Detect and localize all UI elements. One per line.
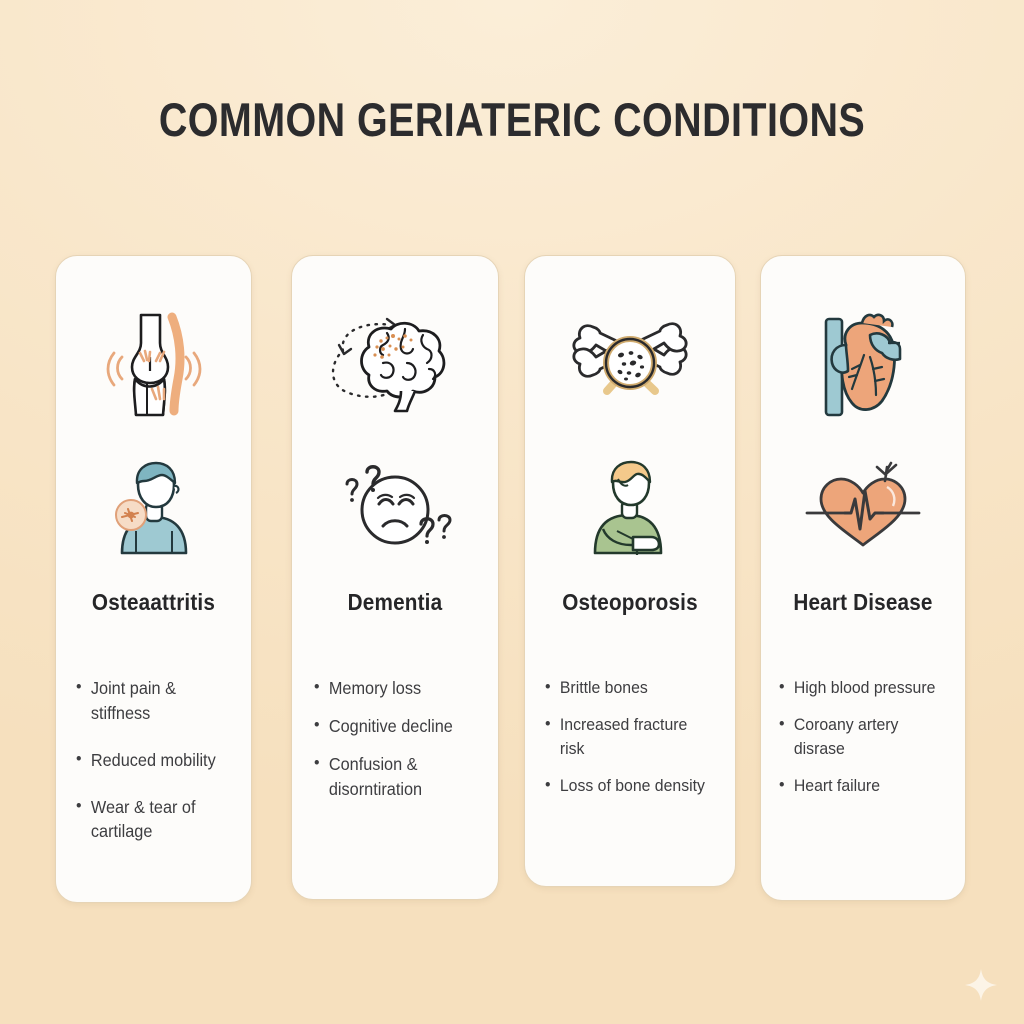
list-item: Heart failure	[779, 774, 945, 798]
list-item: Increased fracture risk	[545, 713, 714, 761]
page-title: COMMON GERIATERIC CONDITIONS	[82, 92, 942, 147]
condition-card-osteoporosis[interactable]: Osteoporosis Brittle bones Increased fra…	[524, 255, 736, 887]
heart-ecg-icon	[761, 452, 965, 562]
list-item: Memory loss	[314, 676, 478, 701]
crossed-bones-icon	[525, 304, 735, 422]
card-heading: Heart Disease	[771, 589, 955, 616]
condition-card-row: Osteaattritis Joint pain & stiffness Red…	[0, 255, 1024, 915]
list-item: Brittle bones	[545, 676, 714, 700]
condition-card-dementia[interactable]: Dementia Memory loss Cognitive decline C…	[291, 255, 499, 900]
infographic-poster: COMMON GERIATERIC CONDITIONS	[0, 0, 1024, 1024]
list-item: Coroany artery disrase	[779, 713, 945, 761]
card-heading: Osteoporosis	[536, 589, 725, 616]
list-item: Reduced mobility	[76, 748, 231, 773]
list-item: Joint pain & stiffness	[76, 676, 231, 726]
list-item: High blood pressure	[779, 676, 945, 700]
confused-face-icon	[292, 452, 498, 562]
sparkle-icon	[964, 968, 998, 1002]
card-heading: Dementia	[302, 589, 487, 616]
list-item: Wear & tear of cartilage	[76, 795, 231, 845]
person-shoulder-pain-icon	[56, 452, 251, 562]
condition-card-heart-disease[interactable]: Heart Disease High blood pressure Coroan…	[760, 255, 966, 901]
symptom-list: Brittle bones Increased fracture risk Lo…	[545, 676, 727, 812]
symptom-list: Memory loss Cognitive decline Confusion …	[314, 676, 490, 814]
anatomical-heart-icon	[761, 304, 965, 422]
brain-icon	[292, 304, 498, 422]
list-item: Cognitive decline	[314, 714, 478, 739]
list-item: Loss of bone density	[545, 774, 714, 798]
symptom-list: Joint pain & stiffness Reduced mobility …	[76, 676, 243, 866]
knee-joint-icon	[56, 304, 251, 422]
card-heading: Osteaattritis	[66, 589, 242, 616]
symptom-list: High blood pressure Coroany artery disra…	[779, 676, 957, 812]
list-item: Confusion & disorntiration	[314, 752, 478, 802]
condition-card-osteoarthritis[interactable]: Osteaattritis Joint pain & stiffness Red…	[55, 255, 252, 903]
person-arm-cast-icon	[525, 452, 735, 562]
